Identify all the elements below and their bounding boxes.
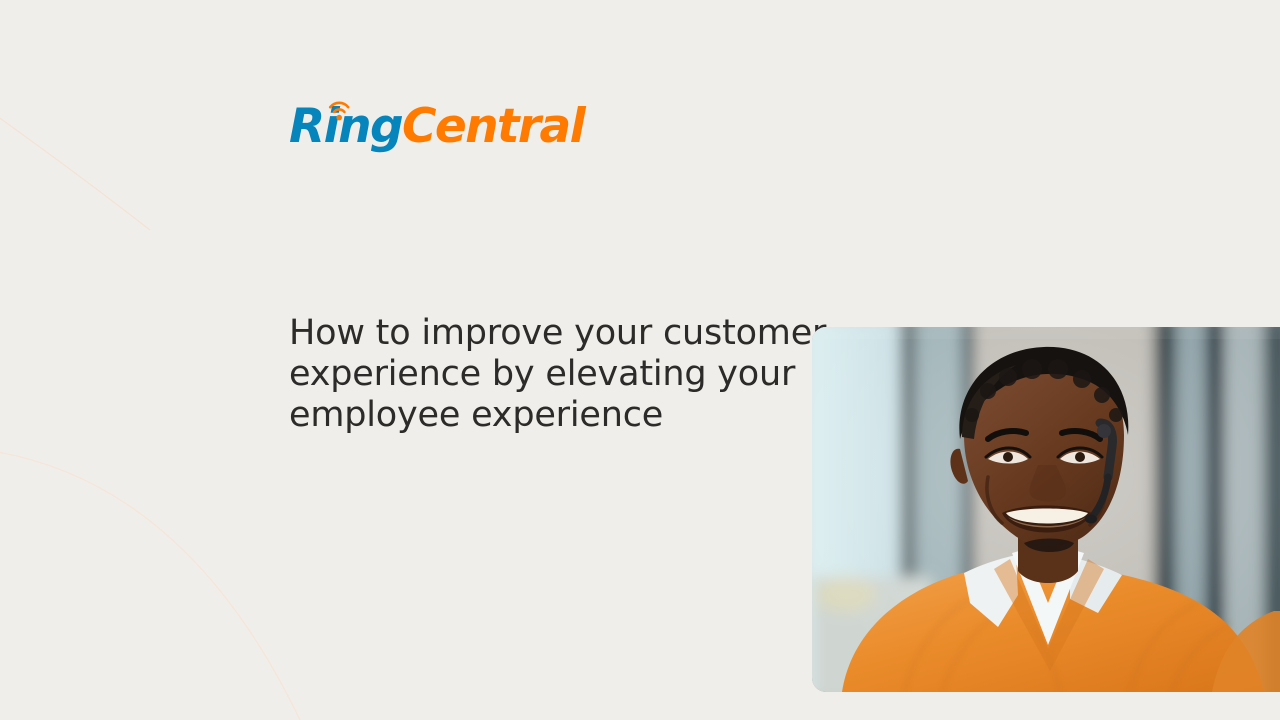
logo-word-central: Central <box>402 99 584 154</box>
slide-title-line-3: employee experience <box>289 395 819 436</box>
slide-title-line-1: How to improve your customer <box>289 313 819 354</box>
presentation-slide: RingCentral How to improve your customer… <box>0 0 1280 720</box>
slide-title-line-2: experience by elevating your <box>289 354 819 395</box>
wifi-arcs-icon <box>327 98 353 122</box>
ringcentral-logo[interactable]: RingCentral <box>289 96 619 158</box>
hero-photo <box>812 327 1280 692</box>
slide-title: How to improve your customer experience … <box>289 313 819 436</box>
